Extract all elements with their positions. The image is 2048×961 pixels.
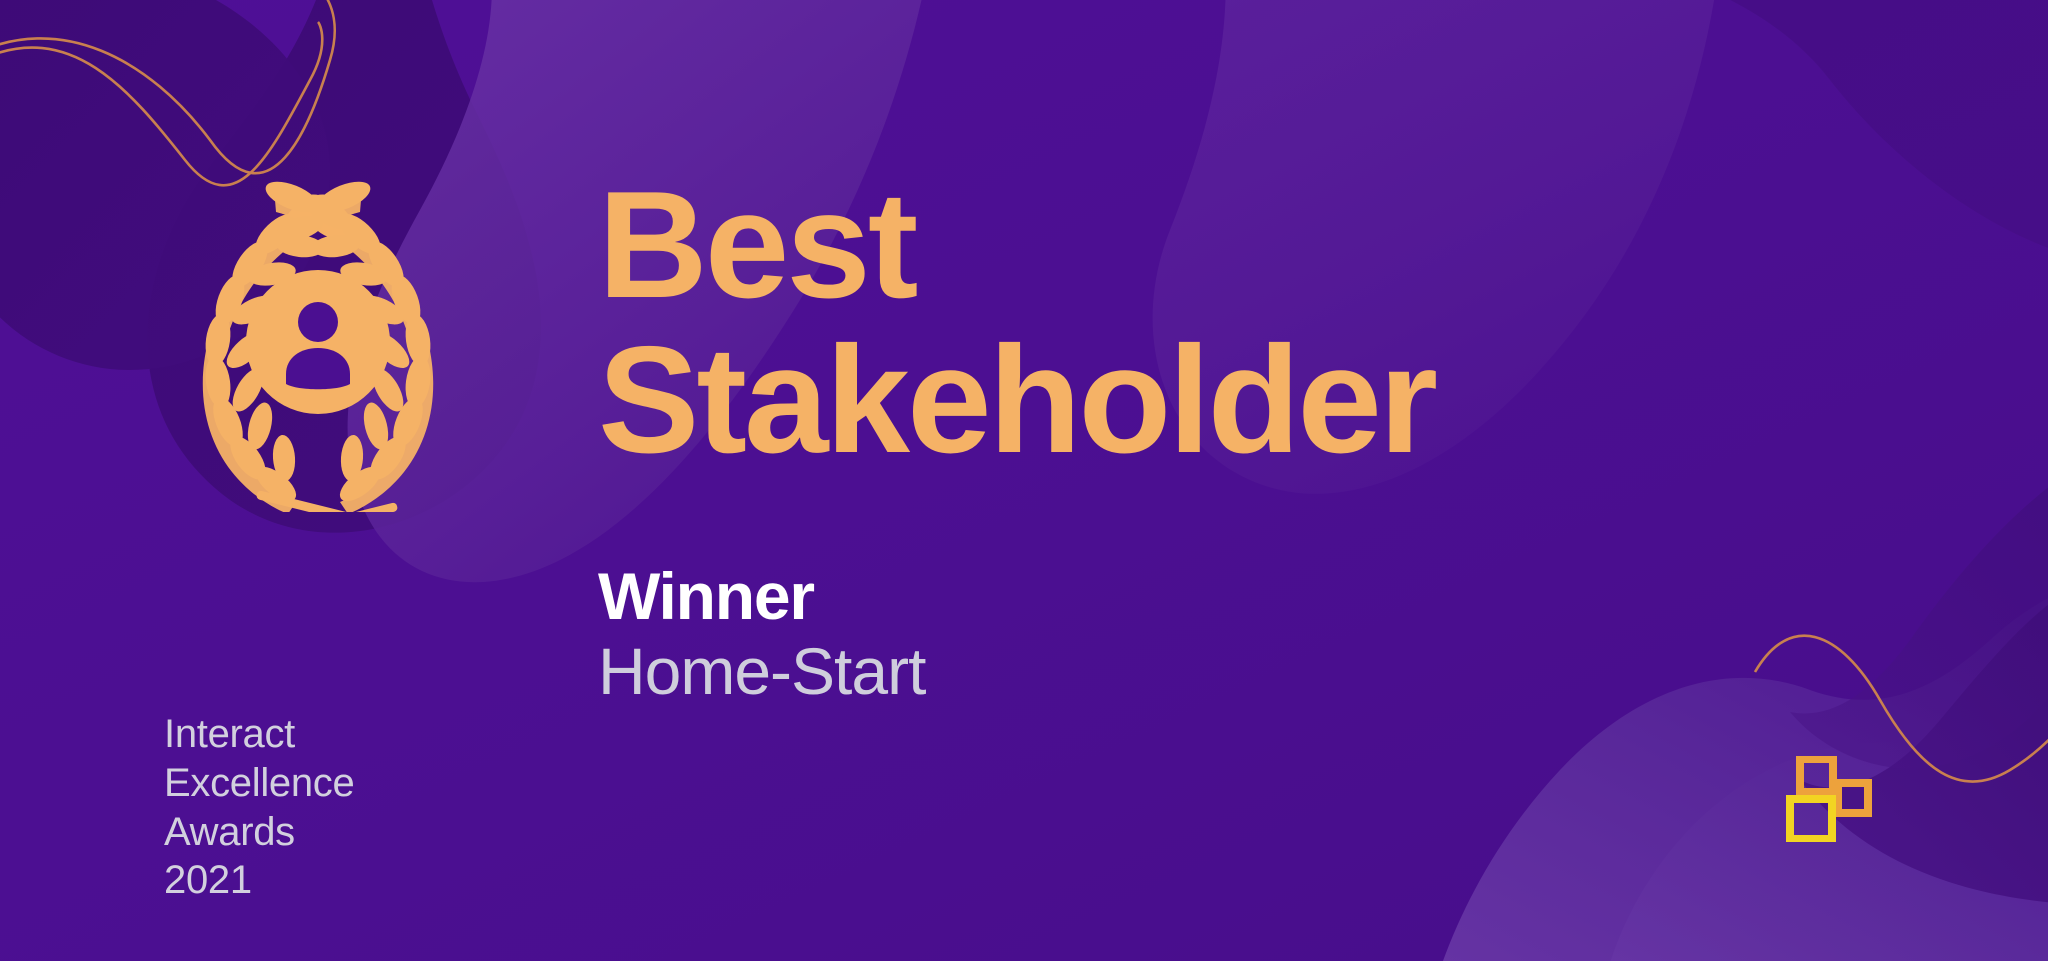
awards-caption-line-2: Excellence: [164, 759, 354, 808]
winner-name: Home-Start: [598, 634, 925, 710]
logo-square-top-left: [1800, 759, 1833, 792]
awards-caption-line-3: Awards: [164, 808, 354, 857]
award-title-line-2: Stakeholder: [598, 323, 1598, 478]
winner-label: Winner: [598, 560, 925, 634]
brand-logo: [1786, 756, 1878, 842]
award-title-block: Best Stakeholder: [598, 168, 1598, 478]
award-badge: [148, 172, 488, 512]
person-avatar-icon: [246, 270, 390, 414]
three-squares-logo-icon: [1786, 756, 1878, 842]
awards-caption-line-4: 2021: [164, 856, 354, 905]
awards-caption-line-1: Interact: [164, 710, 354, 759]
awards-caption: Interact Excellence Awards 2021: [164, 710, 354, 905]
logo-square-middle-right: [1838, 783, 1868, 813]
person-head: [298, 302, 338, 342]
laurel-wreath-person-icon: [148, 172, 488, 512]
winner-block: Winner Home-Start: [598, 560, 925, 710]
award-title-line-1: Best: [598, 168, 1598, 323]
logo-square-bottom-left: [1790, 799, 1832, 839]
award-banner: Best Stakeholder Winner Home-Start Inter…: [0, 0, 2048, 961]
